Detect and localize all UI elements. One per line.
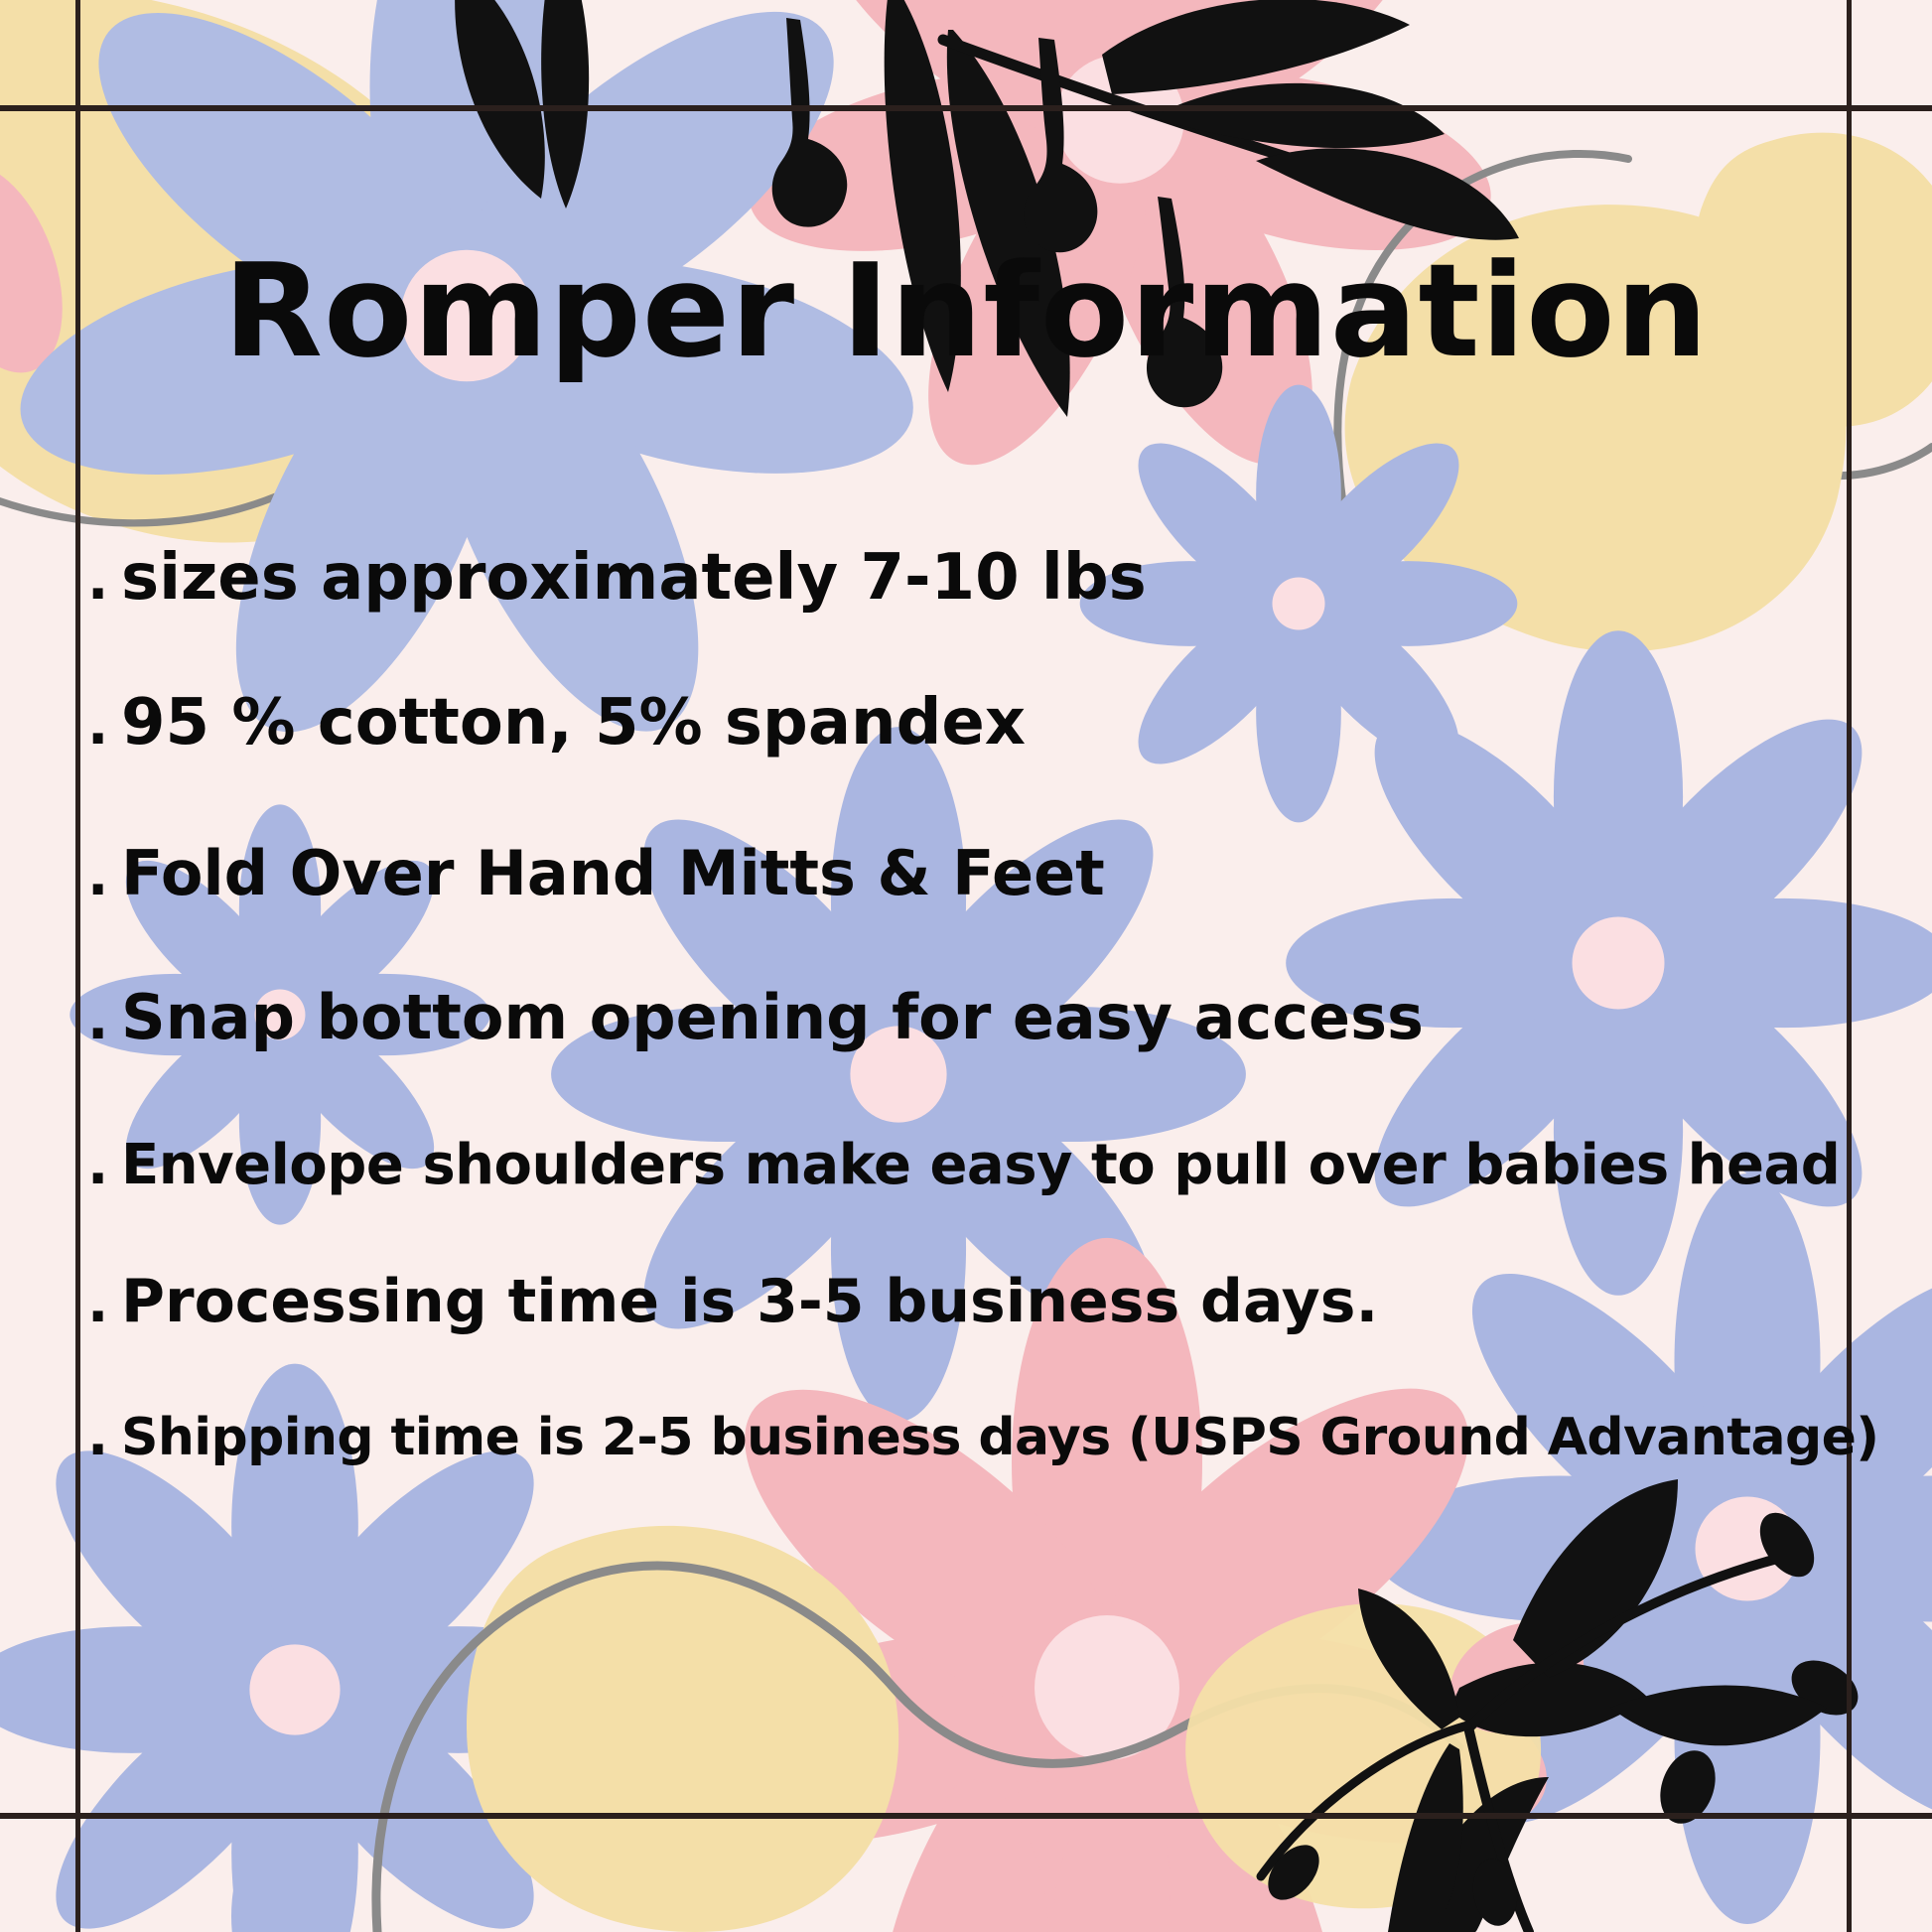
list-item-label: Fold Over Hand Mitts & Feet (121, 837, 1884, 909)
list-item: . sizes approximately 7-10 lbs (87, 541, 1884, 615)
list-item: . Shipping time is 2-5 business days (US… (87, 1408, 1884, 1467)
page-title: Romper Information (0, 246, 1932, 375)
list-item: . Envelope shoulders make easy to pull o… (87, 1133, 1884, 1197)
list-item-label: sizes approximately 7-10 lbs (121, 541, 1884, 615)
list-item-label: Shipping time is 2-5 business days (USPS… (121, 1408, 1884, 1467)
list-item-label: 95 % cotton, 5% spandex (121, 686, 1884, 759)
list-item: . 95 % cotton, 5% spandex (87, 686, 1884, 759)
list-item: . Fold Over Hand Mitts & Feet (87, 837, 1884, 909)
romper-info-list: . sizes approximately 7-10 lbs . 95 % co… (87, 541, 1884, 1467)
list-item-label: Processing time is 3-5 business days. (121, 1267, 1884, 1336)
poster-content: Romper Information . sizes approximately… (0, 0, 1932, 1932)
list-item: . Snap bottom opening for easy access (87, 981, 1884, 1053)
bullet-marker: . (87, 1409, 121, 1464)
poster-canvas: Romper Information . sizes approximately… (0, 0, 1932, 1932)
bullet-marker: . (87, 993, 121, 1048)
bullet-marker: . (87, 698, 121, 754)
bullet-marker: . (87, 849, 121, 904)
list-item-label: Envelope shoulders make easy to pull ove… (121, 1133, 1884, 1197)
list-item-label: Snap bottom opening for easy access (121, 981, 1884, 1053)
bullet-marker: . (87, 1138, 121, 1193)
bullet-marker: . (87, 1276, 121, 1331)
bullet-marker: . (87, 553, 121, 609)
list-item: . Processing time is 3-5 business days. (87, 1267, 1884, 1336)
